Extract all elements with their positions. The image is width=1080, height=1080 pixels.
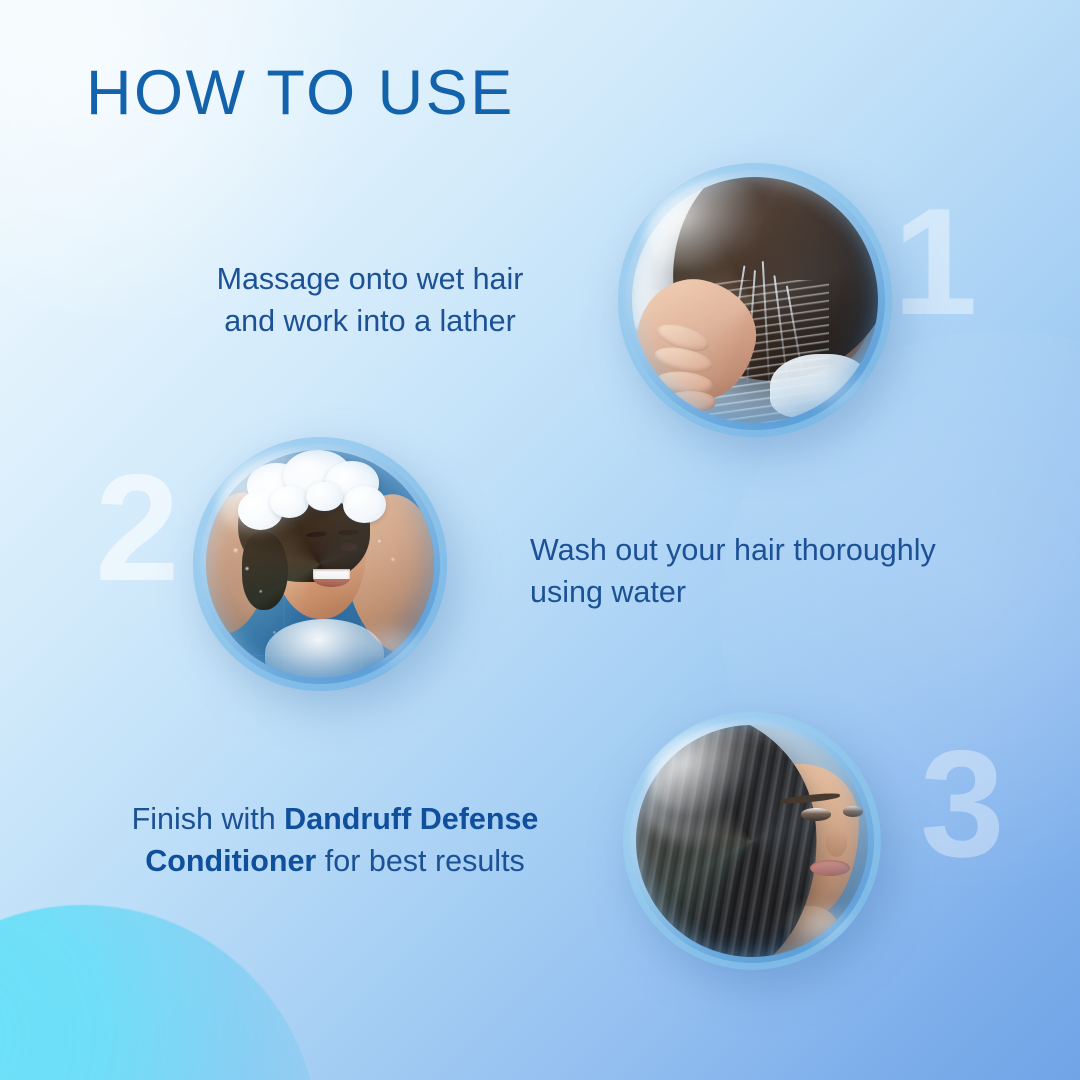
step-image-bubble-3 [623, 712, 881, 970]
scene-3-lips [810, 860, 849, 876]
scene-1-finger [664, 391, 716, 413]
step-image-bubble-1 [618, 163, 892, 437]
bubble-1-photo [632, 177, 879, 424]
bubble-2-photo [206, 450, 435, 679]
step-description-1: Massage onto wet hair and work into a la… [150, 258, 590, 342]
step-number-3: 3 [920, 728, 1005, 880]
step-2-line-1: Wash out your hair thoroughly [530, 529, 1030, 571]
bubble-3-photo [636, 725, 868, 957]
step-3-text-before-bold: Finish with [132, 802, 285, 836]
product-name-line-2: Conditioner [145, 844, 316, 878]
scene-2-water-droplets [206, 450, 435, 679]
step-number-1: 1 [893, 186, 978, 338]
step-description-3: Finish with Dandruff Defense Conditioner… [80, 798, 590, 882]
scene-3-eye [801, 808, 831, 820]
page-title: HOW TO USE [86, 62, 515, 125]
bubble-3-glass [623, 712, 881, 970]
step-image-bubble-2 [193, 437, 447, 691]
step-3-line-1: Finish with Dandruff Defense [80, 798, 590, 840]
how-to-use-infographic: HOW TO USE 1 Massage onto wet hair and w… [0, 0, 1080, 1080]
step-3-text-after-bold: for best results [316, 844, 525, 878]
step-number-2: 2 [95, 452, 180, 604]
step-3-line-2: Conditioner for best results [80, 840, 590, 882]
step-1-line-2: and work into a lather [150, 300, 590, 342]
step-1-line-1: Massage onto wet hair [150, 258, 590, 300]
product-name-line-1: Dandruff Defense [284, 802, 538, 836]
background-accent-blob [0, 905, 318, 1080]
step-2-line-2: using water [530, 571, 1030, 613]
scene-3-eye-far [843, 806, 864, 817]
scene-1-towel [770, 354, 869, 418]
step-description-2: Wash out your hair thoroughly using wate… [530, 529, 1030, 613]
bubble-2-glass [193, 437, 447, 691]
bubble-1-glass [618, 163, 892, 437]
